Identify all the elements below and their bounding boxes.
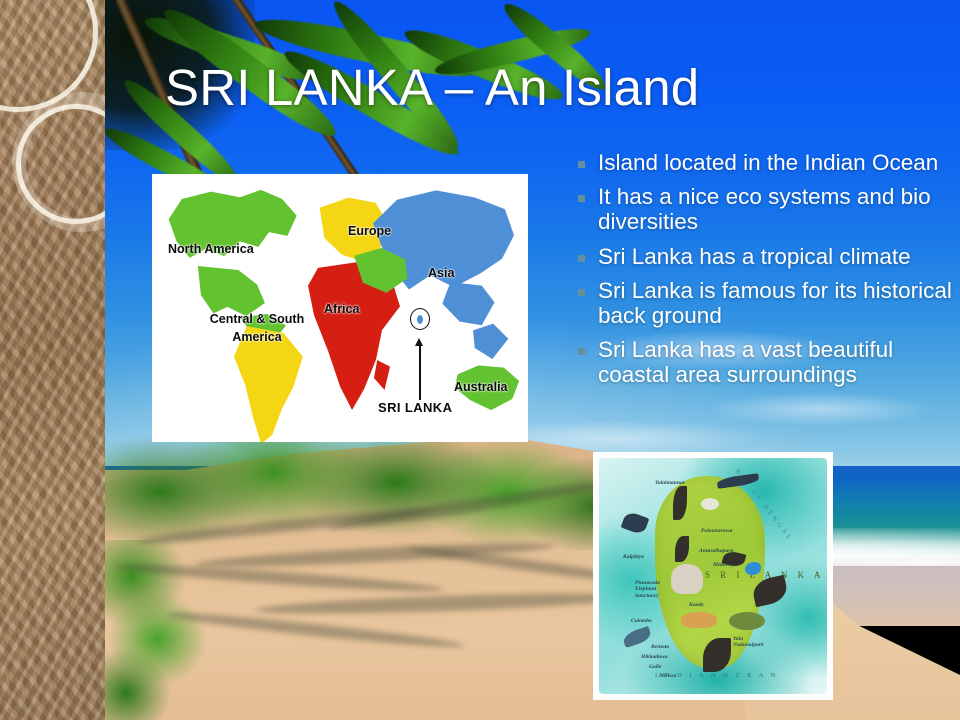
place-label: Polonnaruwa — [701, 528, 732, 534]
indonesia — [468, 322, 510, 364]
list-item: Sri Lanka has a vast beautiful coastal a… — [578, 337, 958, 387]
slide: SRI LANKA – An Island Island located in … — [0, 0, 960, 720]
bullet-list: Island located in the Indian Ocean It ha… — [578, 150, 958, 397]
bullet-square-icon — [578, 348, 585, 355]
bullet-square-icon — [578, 289, 585, 296]
bullet-text: Island located in the Indian Ocean — [598, 150, 938, 175]
sri-lanka-illustrated-map: S R I L A N K A I N D I A N O C E A N BA… — [593, 452, 833, 700]
bullet-text: It has a nice eco systems and bio divers… — [598, 184, 958, 234]
map-label-asia: Asia — [428, 266, 454, 280]
decorative-ring-soft — [12, 92, 105, 232]
bullet-text: Sri Lanka is famous for its historical b… — [598, 278, 958, 328]
bullet-text: Sri Lanka has a vast beautiful coastal a… — [598, 337, 958, 387]
world-map-image: North America Central & South America Eu… — [152, 174, 528, 442]
sri-lanka-dot — [417, 315, 423, 324]
place-label: Pinnawala Elephant Sanctuary — [635, 580, 663, 599]
continent-north-america — [166, 188, 298, 280]
list-item: Sri Lanka is famous for its historical b… — [578, 278, 958, 328]
map-label-sri-lanka: SRI LANKA — [378, 400, 452, 415]
leopard-illustration — [681, 612, 717, 628]
list-item: It has a nice eco systems and bio divers… — [578, 184, 958, 234]
turtle-illustration — [729, 612, 765, 630]
list-item: Island located in the Indian Ocean — [578, 150, 958, 175]
bullet-square-icon — [578, 161, 585, 168]
sri-lanka-arrow-head — [415, 338, 423, 346]
place-label: Mirissa — [659, 673, 676, 679]
theme-side-panel — [0, 0, 105, 720]
elephant-illustration — [671, 564, 703, 594]
place-label: Bentota — [651, 644, 669, 650]
place-label: Yala Nationalpark — [733, 636, 767, 649]
place-label: Kalpitiya — [623, 554, 644, 560]
place-label: Kandy — [689, 602, 704, 608]
map-label-africa: Africa — [324, 302, 359, 316]
place-label: Galle — [649, 664, 661, 670]
list-item: Sri Lanka has a tropical climate — [578, 244, 958, 269]
bullet-square-icon — [578, 195, 585, 202]
map-label-europe: Europe — [348, 224, 391, 238]
place-label: Hikkaduwa — [641, 654, 668, 660]
bullet-text: Sri Lanka has a tropical climate — [598, 244, 911, 269]
bullet-square-icon — [578, 255, 585, 262]
madagascar — [374, 360, 390, 390]
place-label: Colombo — [631, 618, 652, 624]
cloud-wisp — [705, 392, 935, 426]
map-label-central-south-america: Central & South America — [192, 310, 322, 346]
map-label-north-america: North America — [168, 242, 254, 256]
sri-lanka-arrow-line — [419, 346, 421, 400]
stupa-illustration — [701, 498, 719, 510]
page-title: SRI LANKA – An Island — [165, 58, 865, 117]
map-label-australia: Australia — [454, 380, 508, 394]
